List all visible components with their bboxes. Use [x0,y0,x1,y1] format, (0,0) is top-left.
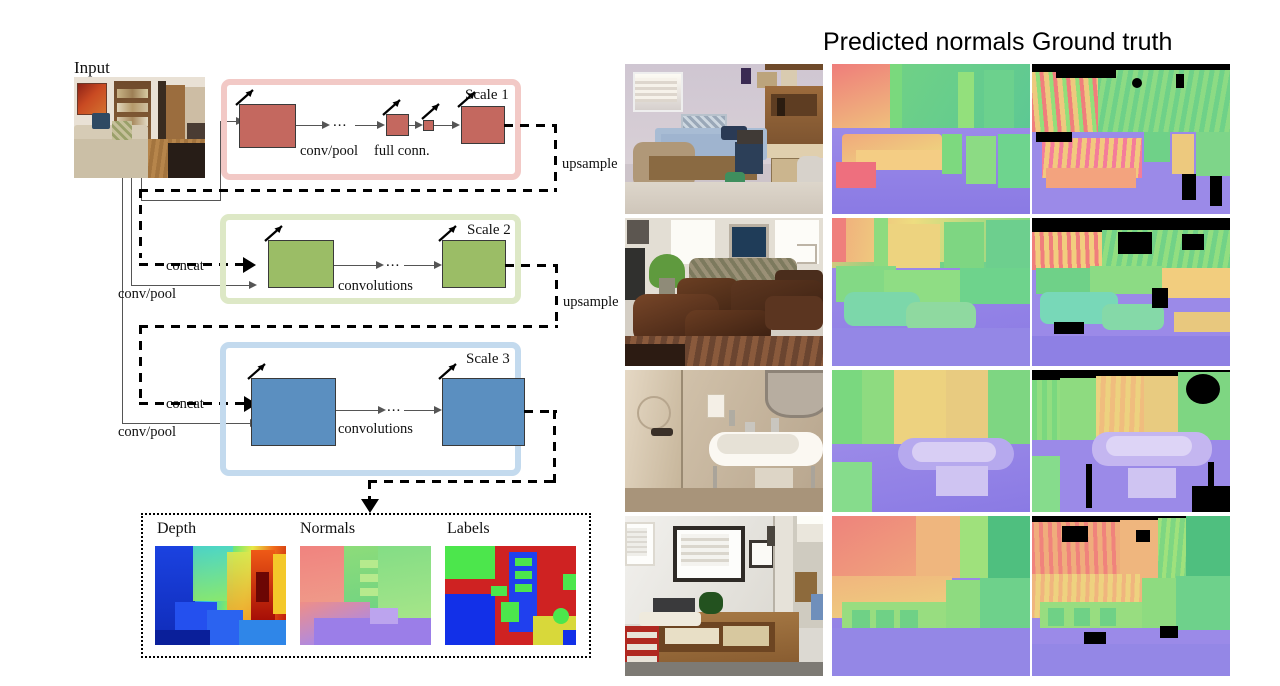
scale3-arrow-1 [378,406,386,414]
scale2-wire-2 [404,265,436,266]
scale-3-title: Scale 3 [466,351,510,368]
result-row-2-groundtruth-image [1032,218,1230,366]
scale2-ellipsis: ... [386,254,400,271]
scale2-arrow-2 [434,261,442,269]
result-row-4-input-image [625,516,823,676]
upsample1-dash-v-down [139,189,142,258]
architecture-diagram: Input conv/ [0,0,615,686]
scale1-box2-weight-arrow-icon [381,97,405,117]
result-row-3-input-image [625,370,823,512]
scale1-fc-box-1 [386,114,409,136]
result-row-2-input-image [625,218,823,366]
wire-input-to-scale2-v [131,178,132,286]
scale1-convpool-label: conv/pool [300,143,358,160]
scale3-arrow-2 [434,406,442,414]
result-row-4-predicted-image [832,516,1030,676]
output-dash-h-bottom [368,480,556,483]
scale2-upsample-label: upsample [563,294,619,311]
predicted-normals-header: Predicted normals [823,28,1024,57]
ground-truth-header: Ground truth [1032,28,1172,57]
scale2-conv-box-2 [442,240,506,288]
input-label: Input [74,58,110,78]
result-row-4-groundtruth-image [1032,516,1230,676]
scale1-arrow-1 [322,121,330,129]
result-row-1-input-image [625,64,823,214]
output-depth-label: Depth [157,520,196,538]
scale2-arrow-1 [376,261,384,269]
scale2-concat-label: concat [166,258,204,275]
upsample2-dash-v-down [139,325,142,401]
results-panel: Predicted normals Ground truth [615,0,1280,686]
scale2-convolutions-label: convolutions [338,278,413,295]
scale2-conv-box-1 [268,240,334,288]
scale3-box2-weight-arrow-icon [437,361,461,381]
scale2-convpool-label: conv/pool [118,286,176,303]
output-depth-image [155,546,286,645]
result-row-1-predicted-image [832,64,1030,214]
scale3-convpool-label: conv/pool [118,424,176,441]
output-dash-v [553,410,556,483]
scale1-fc-box-2 [423,120,434,131]
output-labels-label: Labels [447,520,490,538]
output-arrowhead [361,499,379,513]
scale1-wire-2 [355,125,379,126]
result-row-3-groundtruth-image [1032,370,1230,512]
upsample2-dash-h-bottom [139,325,558,328]
scale3-ellipsis: ... [387,399,401,416]
scale1-upsample-label: upsample [562,156,618,173]
scale1-arrow-4 [452,121,460,129]
scale3-convolutions-label: convolutions [338,421,413,438]
result-row-2-predicted-image [832,218,1030,366]
result-row-3-predicted-image [832,370,1030,512]
output-labels-image [445,546,576,645]
scale3-conv-box-1 [251,378,336,446]
output-normals-label: Normals [300,520,355,538]
input-image [74,77,205,178]
scale3-wire-1 [336,410,380,411]
scale1-fullconn-label: full conn. [374,143,430,160]
scale3-box1-weight-arrow-icon [246,361,270,381]
scale-2-title: Scale 2 [467,222,511,239]
scale1-arrow-2 [377,121,385,129]
output-normals-image [300,546,431,645]
upsample1-dash-v [554,124,557,192]
scale1-box1-weight-arrow-icon [234,87,258,107]
upsample1-dash-h-bottom [139,189,556,192]
scale1-conv-box [239,104,296,148]
scale1-box3-weight-arrow-icon [420,101,444,121]
upsample2-dash-h-top [505,264,558,267]
upsample2-dash-v [555,264,558,328]
scale1-arrow-3 [415,121,423,129]
scale1-wire-4 [434,125,454,126]
scale1-output-box [461,106,505,144]
scale1-ellipsis: ... [333,114,347,131]
scale3-conv-box-2 [442,378,525,446]
scale3-wire-2 [404,410,436,411]
scale2-wire-1 [334,265,378,266]
wire-input-to-scale1-h [141,200,221,201]
scale1-box4-weight-arrow-icon [456,89,480,109]
result-row-1-groundtruth-image [1032,64,1230,214]
scale1-wire-1 [296,125,324,126]
upsample1-dash-h-top [504,124,557,127]
scale2-box2-weight-arrow-icon [437,223,461,243]
scale2-box1-weight-arrow-icon [263,223,287,243]
